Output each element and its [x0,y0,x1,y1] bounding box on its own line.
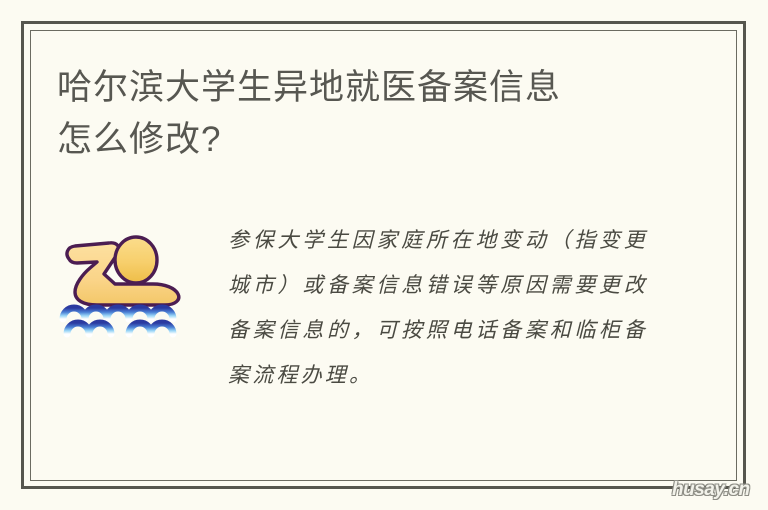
site-watermark: husay.cn [672,479,750,501]
swimmer-icon [57,226,187,338]
page-title: 哈尔滨大学生异地就医备案信息 怎么修改? [57,62,657,166]
article-body-text: 参保大学生因家庭所在地变动（指变更城市）或备案信息错误等原因需要更改备案信息的，… [228,218,648,398]
article-card: 哈尔滨大学生异地就医备案信息 怎么修改? [0,0,768,510]
